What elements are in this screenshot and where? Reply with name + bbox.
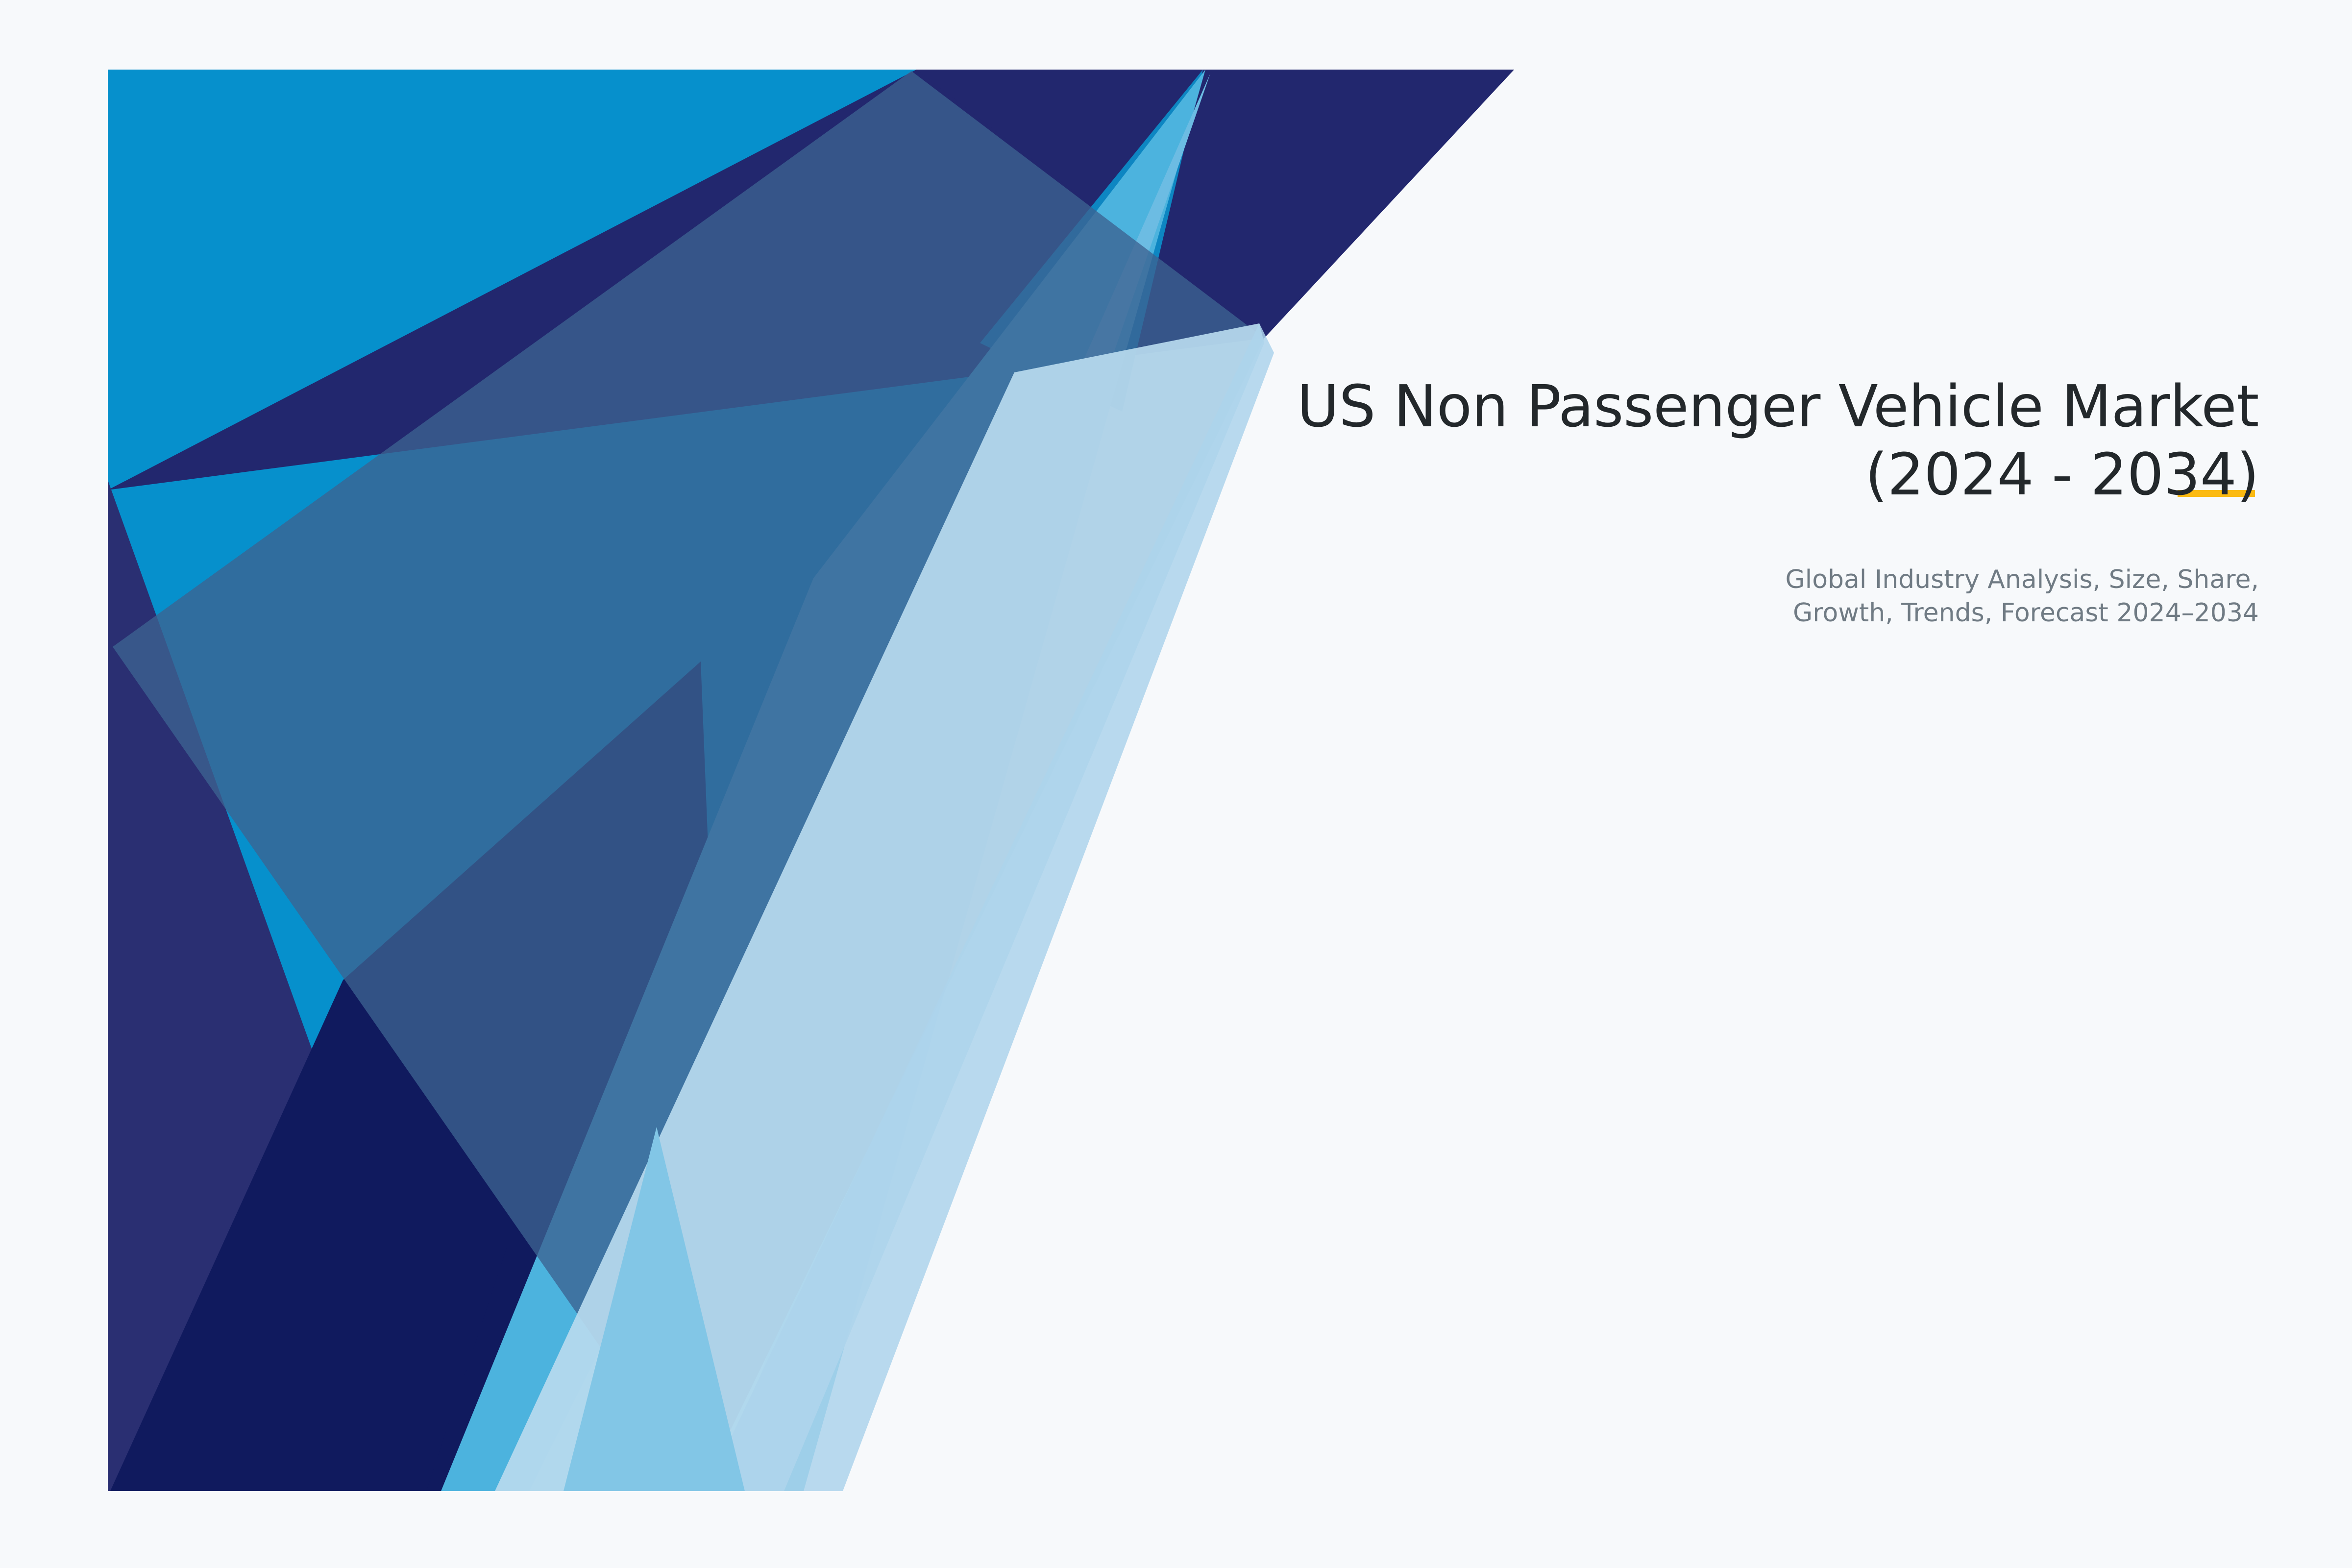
page-title-years-accent: 2034): [2090, 441, 2259, 508]
page-title-line-2: (2024 - 2034): [936, 441, 2259, 509]
page-title: US Non Passenger Vehicle Market (2024 - …: [936, 372, 2259, 509]
page-title-years-accent-wrap: 2034): [2090, 441, 2259, 509]
page-title-line-1: US Non Passenger Vehicle Market: [936, 372, 2259, 441]
cover-slide: US Non Passenger Vehicle Market (2024 - …: [0, 0, 2352, 1568]
page-subtitle-line-2: Growth, Trends, Forecast 2024–2034: [936, 597, 2259, 630]
page-subtitle-line-1: Global Industry Analysis, Size, Share,: [936, 563, 2259, 597]
abstract-geometric-cover-artwork: [0, 0, 2352, 1568]
page-subtitle: Global Industry Analysis, Size, Share, G…: [936, 563, 2259, 630]
title-text-block: US Non Passenger Vehicle Market (2024 - …: [936, 372, 2259, 630]
page-title-years-prefix: (2024 -: [1865, 441, 2090, 508]
